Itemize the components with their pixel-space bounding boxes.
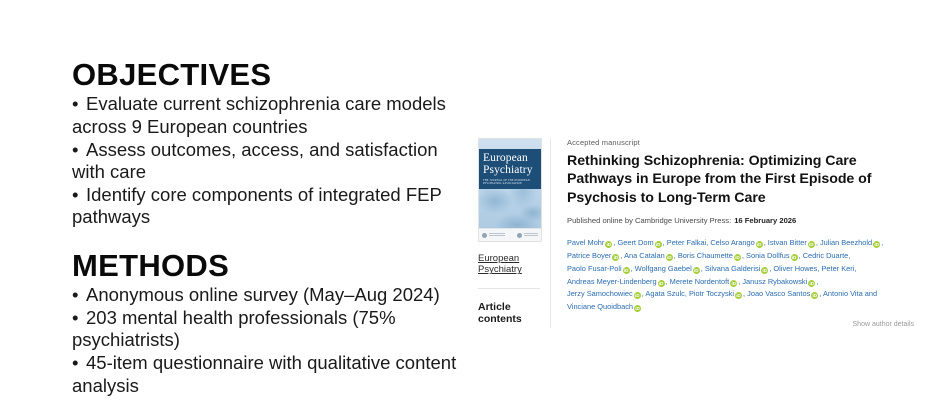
orcid-icon[interactable]: iD [693, 267, 700, 274]
author-list: Pavel MohriD, Geert DomiD, Peter Falkai,… [567, 237, 918, 313]
orcid-icon[interactable]: iD [655, 241, 662, 248]
orcid-icon[interactable]: iD [612, 254, 619, 261]
author-name[interactable]: Andreas Meyer-Lindenberg [567, 277, 657, 286]
slide-text-column: OBJECTIVES Evaluate current schizophreni… [72, 58, 472, 401]
orcid-icon[interactable]: iD [623, 267, 630, 274]
journal-cover-title: European Psychiatry THE JOURNAL OF THE E… [479, 149, 541, 189]
methods-bullet-list: Anonymous online survey (May–Aug 2024) 2… [72, 284, 472, 397]
author-name[interactable]: Celso Arango [710, 238, 754, 247]
author-separator: , [848, 251, 850, 260]
author-line: Andreas Meyer-LindenbergiD, Merete Norde… [567, 276, 918, 289]
author-name[interactable]: Boris Chaumette [678, 251, 733, 260]
article-sidebar: European Psychiatry THE JOURNAL OF THE E… [478, 138, 550, 325]
article-title[interactable]: Rethinking Schizophrenia: Optimizing Car… [567, 152, 918, 207]
article-main-content: Accepted manuscript Rethinking Schizophr… [550, 138, 918, 328]
author-name[interactable]: Antonio Vita and [823, 289, 877, 298]
journal-name-link[interactable]: European Psychiatry [478, 253, 540, 276]
bullet-item: Evaluate current schizophrenia care mode… [72, 93, 472, 138]
author-name[interactable]: Julian Beezhold [820, 238, 872, 247]
orcid-icon[interactable]: iD [873, 241, 880, 248]
author-name[interactable]: Sonia Dollfus [746, 251, 790, 260]
author-line: Patrice BoyeriD, Ana CatalaniD, Boris Ch… [567, 250, 918, 263]
author-name[interactable]: Jerzy Samochowiec [567, 289, 633, 298]
orcid-icon[interactable]: iD [761, 267, 768, 274]
author-name[interactable]: Peter Falkai [667, 238, 706, 247]
author-name[interactable]: Silvana Galderisi [705, 264, 760, 273]
objectives-heading: OBJECTIVES [72, 58, 472, 91]
orcid-icon[interactable]: iD [811, 292, 818, 299]
methods-section: METHODS Anonymous online survey (May–Aug… [72, 249, 472, 397]
author-separator: , [854, 264, 856, 273]
author-line: Vinciane QuoidbachiD [567, 301, 918, 314]
sidebar-divider [478, 288, 540, 289]
author-name[interactable]: Geert Dom [618, 238, 654, 247]
author-name[interactable]: Istvan Bitter [768, 238, 807, 247]
author-line: Jerzy SamochowieciD, Agata Szulc, Piotr … [567, 288, 918, 301]
author-line: Paolo Fusar-PoliiD, Wolfgang GaebeliD, S… [567, 263, 918, 276]
orcid-icon[interactable]: iD [605, 241, 612, 248]
author-name[interactable]: Oliver Howes [773, 264, 817, 273]
objectives-bullet-list: Evaluate current schizophrenia care mode… [72, 93, 472, 228]
publication-info: Published online by Cambridge University… [567, 216, 918, 225]
author-name[interactable]: Ana Catalan [624, 251, 665, 260]
author-name[interactable]: Patrice Boyer [567, 251, 611, 260]
article-panel: European Psychiatry THE JOURNAL OF THE E… [478, 138, 918, 328]
orcid-icon[interactable]: iD [734, 254, 741, 261]
orcid-icon[interactable]: iD [808, 280, 815, 287]
publisher-logo-icon [517, 233, 538, 238]
cover-logo-strip [479, 228, 541, 241]
author-name[interactable]: Cedric Duarte [803, 251, 849, 260]
bullet-item: 45-item questionnaire with qualitative c… [72, 352, 472, 397]
orcid-icon[interactable]: iD [756, 241, 763, 248]
journal-cover-image[interactable]: European Psychiatry THE JOURNAL OF THE E… [478, 138, 542, 242]
orcid-icon[interactable]: iD [666, 254, 673, 261]
manuscript-status-kicker: Accepted manuscript [567, 138, 918, 147]
bullet-item: Identify core components of integrated F… [72, 184, 472, 229]
author-separator: , [881, 238, 883, 247]
author-name[interactable]: Merete Nordentoft [670, 277, 730, 286]
author-name[interactable]: Peter Keri [821, 264, 854, 273]
bullet-item: Assess outcomes, access, and satisfactio… [72, 139, 472, 184]
bullet-item: 203 mental health professionals (75% psy… [72, 307, 472, 352]
cover-title-line-2: Psychiatry [483, 165, 537, 177]
orcid-icon[interactable]: iD [735, 292, 742, 299]
author-name[interactable]: Piotr Toczyski [689, 289, 734, 298]
orcid-icon[interactable]: iD [634, 305, 641, 312]
author-name[interactable]: Vinciane Quoidbach [567, 302, 633, 311]
orcid-icon[interactable]: iD [808, 241, 815, 248]
show-author-details-link[interactable]: Show author details [567, 321, 918, 328]
bullet-item: Anonymous online survey (May–Aug 2024) [72, 284, 472, 307]
article-contents-label: Article contents [478, 301, 540, 325]
orcid-icon[interactable]: iD [791, 254, 798, 261]
objectives-section: OBJECTIVES Evaluate current schizophreni… [72, 58, 472, 229]
author-name[interactable]: Paolo Fusar-Poli [567, 264, 622, 273]
author-name[interactable]: Janusz Rybakowski [742, 277, 807, 286]
author-name[interactable]: Wolfgang Gaebel [635, 264, 692, 273]
author-name[interactable]: Agata Szulc [645, 289, 684, 298]
cover-subtitle: THE JOURNAL OF THE EUROPEAN PSYCHIATRIC … [483, 179, 537, 185]
author-name[interactable]: Joao Vasco Santos [747, 289, 810, 298]
orcid-icon[interactable]: iD [730, 280, 737, 287]
methods-heading: METHODS [72, 249, 472, 282]
association-logo-icon [482, 233, 505, 238]
orcid-icon[interactable]: iD [634, 292, 641, 299]
published-label: Published online by Cambridge University… [567, 216, 731, 225]
orcid-icon[interactable]: iD [658, 280, 665, 287]
author-separator: , [816, 277, 818, 286]
author-line: Pavel MohriD, Geert DomiD, Peter Falkai,… [567, 237, 918, 250]
published-date: 16 February 2026 [734, 216, 796, 225]
author-name[interactable]: Pavel Mohr [567, 238, 604, 247]
